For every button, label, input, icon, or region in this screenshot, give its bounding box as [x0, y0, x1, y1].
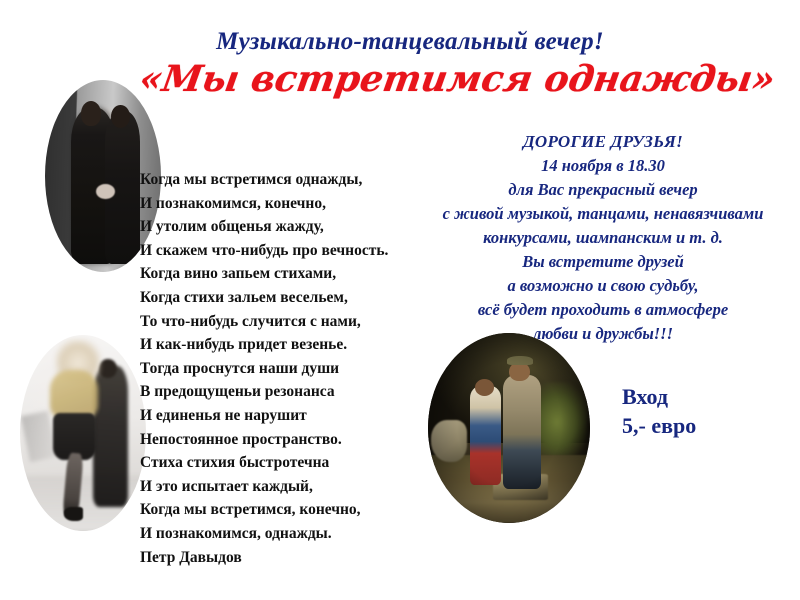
photo-joined-hands — [96, 184, 115, 199]
poem-line: Непостоянное пространство. — [140, 428, 430, 452]
invitation-line: а возможно и свою судьбу, — [408, 274, 798, 298]
poem-line: То что-нибудь случится с нами, — [140, 310, 430, 334]
entry-label: Вход — [622, 382, 696, 411]
oval-oil-painting — [428, 333, 590, 523]
dancers-woman-shoe — [64, 507, 83, 521]
photo-man-head — [81, 101, 101, 126]
photo-woman-head — [111, 105, 130, 128]
poem-line: И это испытает каждый, — [140, 475, 430, 499]
poem-line: И познакомимся, однажды. — [140, 522, 430, 546]
dancers-man-figure — [93, 366, 128, 507]
dancing-couple-photo — [20, 335, 146, 531]
poem-line: И познакомимся, конечно, — [140, 192, 430, 216]
poem-line: В предощущеньи резонанса — [140, 380, 430, 404]
dancers-man-head — [99, 359, 117, 379]
painting-vignette — [428, 333, 590, 523]
poem-author: Петр Давыдов — [140, 546, 430, 570]
invitation-text: ДОРОГИЕ ДРУЗЬЯ! 14 ноября в 18.30 для Ва… — [408, 130, 798, 346]
entry-price-block: Вход 5,- евро — [622, 382, 696, 440]
invitation-line: конкурсами, шампанским и т. д. — [408, 226, 798, 250]
invitation-line: 14 ноября в 18.30 — [408, 154, 798, 178]
poster-canvas: Музыкально-танцевальный вечер! «Мы встре… — [0, 0, 800, 600]
invitation-line: ДОРОГИЕ ДРУЗЬЯ! — [408, 130, 798, 154]
poster-headline: Музыкально-танцевальный вечер! — [150, 28, 670, 56]
poem-line: Когда мы встретимся однажды, — [140, 168, 430, 192]
poem-line: Когда стихи зальем весельем, — [140, 286, 430, 310]
poem-line: И утолим общенья жажду, — [140, 215, 430, 239]
invitation-line: Вы встретите друзей — [408, 250, 798, 274]
poem-line: Когда вино запьем стихами, — [140, 262, 430, 286]
poem-line: Когда мы встретимся, конечно, — [140, 498, 430, 522]
invitation-line: всё будет проходить в атмосфере — [408, 298, 798, 322]
invitation-line: для Вас прекрасный вечер — [408, 178, 798, 202]
entry-price: 5,- евро — [622, 411, 696, 440]
invitation-line: с живой музыкой, танцами, ненавязчивами — [408, 202, 798, 226]
poem-line: И единенья не нарушит — [140, 404, 430, 428]
poster-subheadline: «Мы встретимся однажды» — [137, 58, 664, 100]
poem-line: И скажем что-нибудь про вечность. — [140, 239, 430, 263]
poem-text: Когда мы встретимся однажды, И познакоми… — [140, 168, 430, 569]
poem-line: Тогда проснутся наши души — [140, 357, 430, 381]
dancers-chair — [20, 411, 57, 463]
poem-line: Стиха стихия быстротечна — [140, 451, 430, 475]
dancers-woman-top — [50, 370, 98, 419]
poem-line: И как-нибудь придет везенье. — [140, 333, 430, 357]
